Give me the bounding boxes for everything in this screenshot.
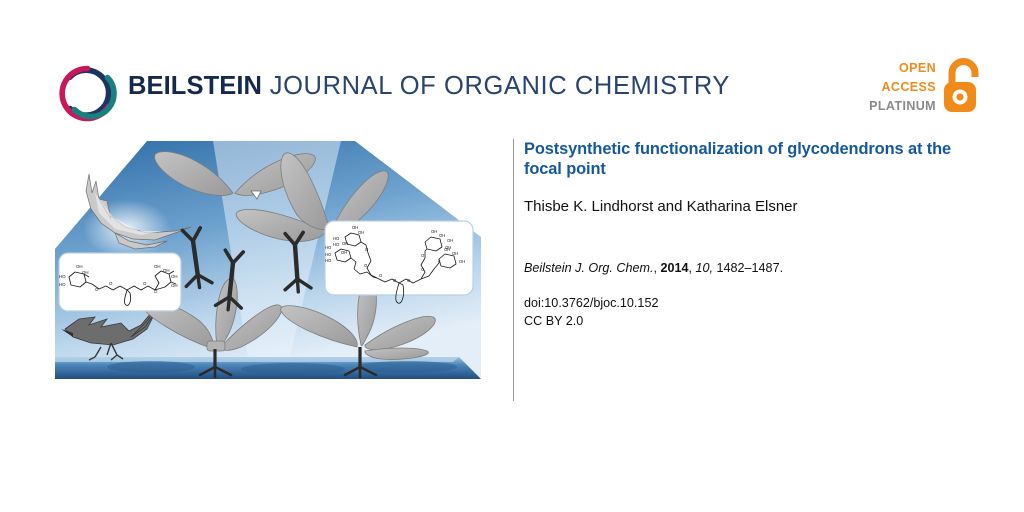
beilstein-swirl-logo-icon[interactable] (52, 58, 122, 128)
svg-text:OH: OH (76, 264, 83, 269)
svg-text:OH: OH (459, 259, 465, 264)
svg-text:O: O (143, 281, 147, 286)
svg-text:OH: OH (431, 229, 437, 234)
graphical-abstract-image[interactable]: OH OH HO HO O O O O OH OH OH OH (55, 141, 481, 387)
svg-text:OH: OH (342, 241, 348, 246)
column-divider (513, 139, 514, 401)
svg-text:OH: OH (163, 268, 170, 273)
article-doi[interactable]: doi:10.3762/bjoc.10.152 (524, 296, 658, 310)
svg-text:HO: HO (333, 242, 340, 247)
svg-text:HO: HO (325, 258, 332, 263)
svg-text:HO: HO (59, 282, 66, 287)
article-meta: Postsynthetic functionalization of glyco… (524, 140, 984, 330)
svg-text:OH: OH (341, 250, 347, 255)
journal-header: BEILSTEIN JOURNAL OF ORGANIC CHEMISTRY O… (0, 0, 1024, 140)
svg-text:OH: OH (447, 238, 453, 243)
svg-text:O: O (109, 281, 113, 286)
svg-text:OH: OH (452, 251, 458, 256)
svg-text:HO: HO (333, 236, 340, 241)
open-access-line-access: ACCESS (869, 78, 936, 97)
article-citation: Beilstein J. Org. Chem., 2014, 10, 1482–… (524, 260, 984, 277)
article-authors: Thisbe K. Lindhorst and Katharina Elsner (524, 197, 984, 216)
open-access-line-platinum: PLATINUM (869, 97, 936, 116)
citation-journal: Beilstein J. Org. Chem. (524, 261, 653, 275)
citation-sep2: , (689, 261, 696, 275)
wordmark-bold: BEILSTEIN (128, 72, 262, 100)
article-license[interactable]: CC BY 2.0 (524, 314, 583, 328)
citation-year: 2014 (660, 261, 688, 275)
svg-text:OH: OH (358, 230, 364, 235)
structure-callout-right: OH OH HO HO OH HO HO HO OH OH OH OH OH O… (325, 221, 473, 303)
open-access-text: OPEN ACCESS PLATINUM (869, 59, 936, 116)
structure-callout-left: OH OH HO HO O O O O OH OH OH OH (59, 253, 181, 311)
svg-text:HO: HO (325, 245, 332, 250)
svg-text:HO: HO (325, 252, 332, 257)
svg-text:OH: OH (171, 274, 178, 279)
svg-text:OH: OH (82, 270, 89, 275)
svg-text:OH: OH (439, 233, 445, 238)
journal-wordmark: BEILSTEIN JOURNAL OF ORGANIC CHEMISTRY (128, 72, 730, 102)
graphical-abstract-svg: OH OH HO HO O O O O OH OH OH OH (55, 141, 481, 387)
cover-page: BEILSTEIN JOURNAL OF ORGANIC CHEMISTRY O… (0, 0, 1024, 512)
svg-text:HO: HO (59, 274, 66, 279)
open-padlock-icon (940, 57, 988, 115)
svg-text:OH: OH (171, 283, 178, 288)
svg-text:OH: OH (154, 264, 161, 269)
svg-text:O: O (154, 289, 158, 294)
svg-text:O: O (95, 287, 99, 292)
article-doi-license: doi:10.3762/bjoc.10.152CC BY 2.0 (524, 295, 984, 330)
wordmark-light: JOURNAL OF ORGANIC CHEMISTRY (262, 72, 730, 100)
open-access-line-open: OPEN (869, 59, 936, 78)
open-access-badge[interactable]: OPEN ACCESS PLATINUM (876, 57, 988, 119)
article-title[interactable]: Postsynthetic functionalization of glyco… (524, 140, 984, 179)
citation-pages: 1482–1487. (717, 261, 784, 275)
citation-volume: 10, (696, 261, 714, 275)
svg-text:OH: OH (444, 247, 450, 252)
